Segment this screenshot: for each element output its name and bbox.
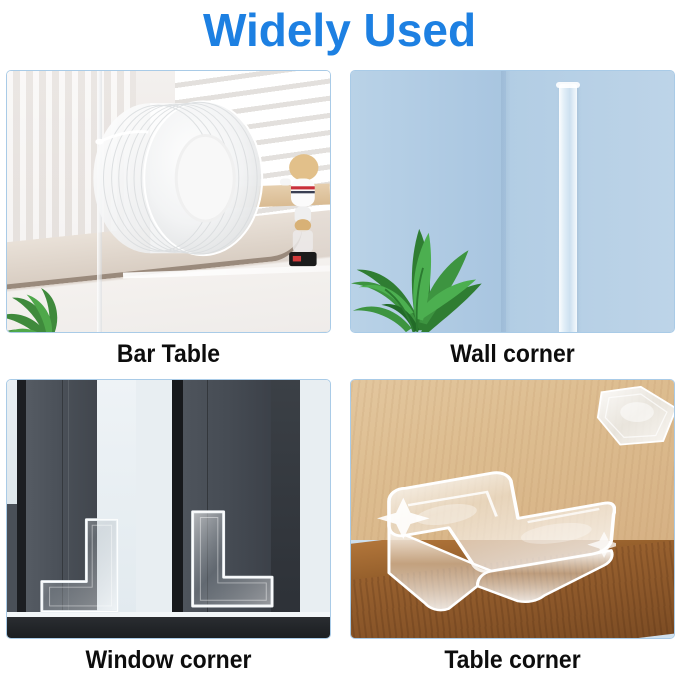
product-feature-image: Widely Used — [0, 0, 679, 676]
wall-corner-shadow — [501, 71, 511, 332]
wall-corner-guard — [559, 84, 577, 333]
plant-decor — [351, 186, 493, 332]
plant-decor — [6, 259, 85, 333]
window-frame-left — [17, 380, 27, 617]
photo-wall-corner — [350, 70, 675, 333]
wall-corner-guard-cap — [556, 82, 580, 88]
panel-window-corner: Window corner — [6, 379, 331, 681]
corner-guard-left — [36, 514, 123, 617]
caption-window-corner: Window corner — [19, 639, 318, 681]
caption-bar-table: Bar Table — [19, 333, 318, 375]
wall-surface-right — [506, 71, 674, 332]
photo-table-corner — [350, 379, 675, 639]
panel-table-corner: Table corner — [350, 379, 675, 681]
page-title: Widely Used — [0, 2, 679, 58]
caption-table-corner: Table corner — [363, 639, 662, 681]
photo-window-corner — [6, 379, 331, 639]
photo-bar-table — [6, 70, 331, 333]
panel-wall-corner: Wall corner — [350, 70, 675, 375]
corner-guard-main — [377, 460, 616, 620]
corner-guard-spare — [596, 385, 675, 457]
caption-wall-corner: Wall corner — [363, 333, 662, 375]
corner-guard-right — [181, 506, 278, 612]
panel-bar-table: Bar Table — [6, 70, 331, 375]
window-sill — [7, 617, 330, 638]
tape-roll — [75, 84, 278, 267]
